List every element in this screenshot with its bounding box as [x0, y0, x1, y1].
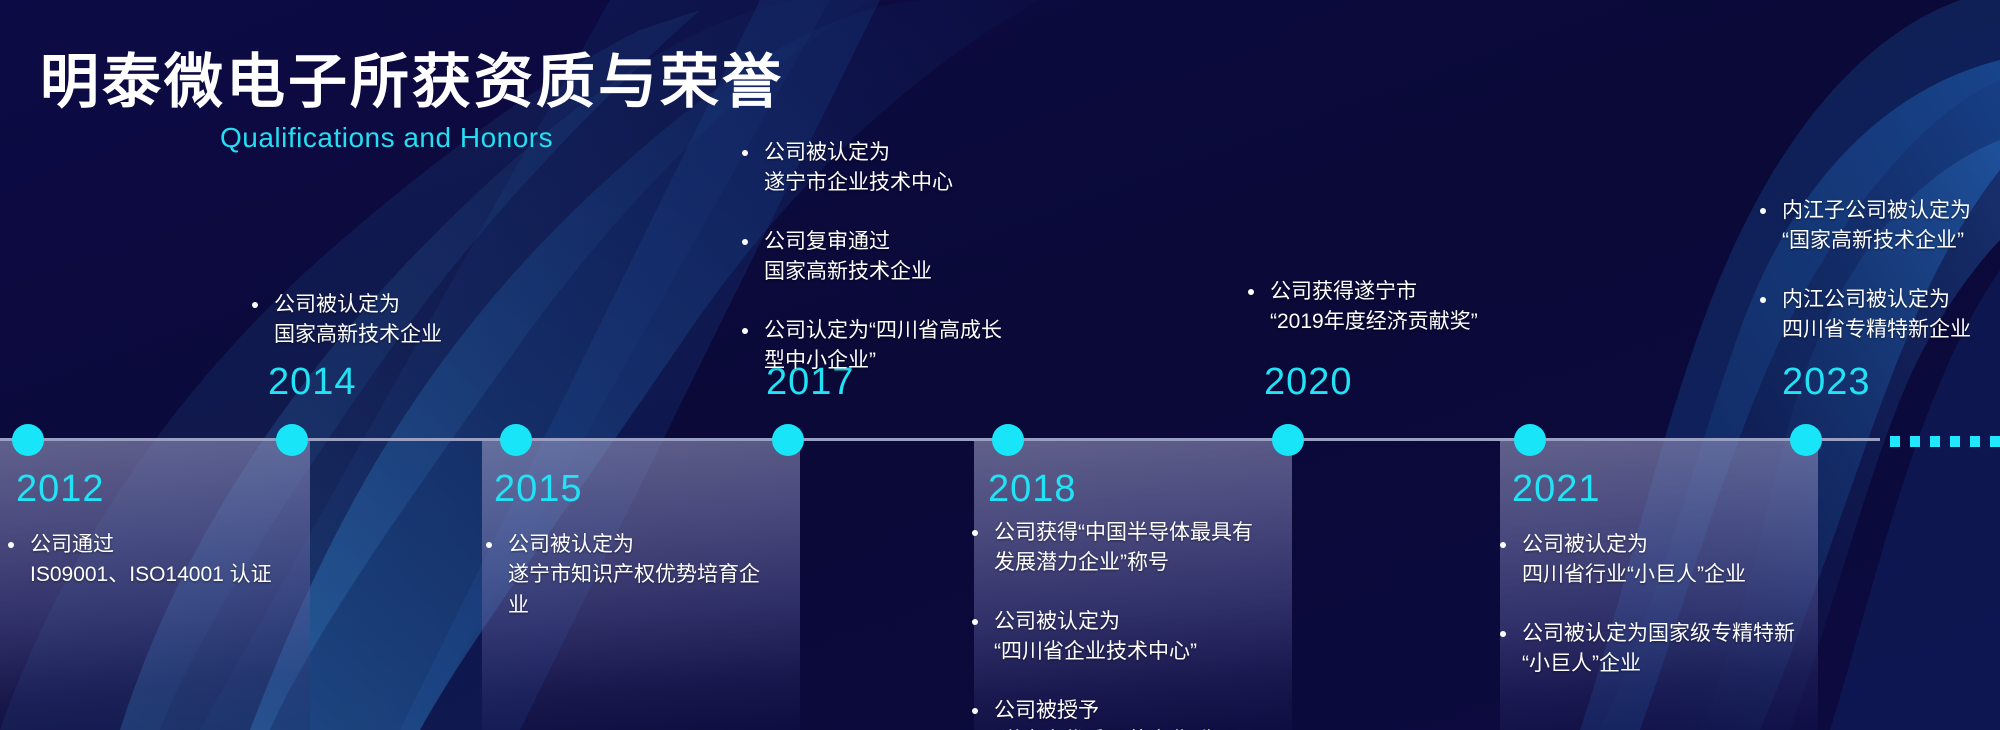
milestone-bullets-2015: 公司被认定为 遂宁市知识产权优势培育企 业 [482, 530, 792, 621]
list-item: 公司复审通过 国家高新技术企业 [738, 227, 1058, 288]
list-item: 公司认定为“四川省高成长 型中小企业” [738, 316, 1058, 377]
timeline-dot-2023[interactable] [1790, 424, 1822, 456]
timeline-dot-2014[interactable] [276, 424, 308, 456]
timeline-dot-2012[interactable] [12, 424, 44, 456]
year-label-2023: 2023 [1782, 361, 1871, 404]
milestone-bullets-2023: 内江子公司被认定为 “国家高新技术企业” 内江公司被认定为 四川省专精特新企业 [1756, 196, 2000, 346]
milestone-bullets-2018: 公司获得“中国半导体最具有 发展潜力企业”称号 公司被认定为 “四川省企业技术中… [968, 518, 1288, 730]
axis-tail-segment [1910, 436, 1920, 447]
axis-tail-segment [1990, 436, 2000, 447]
list-item: 公司被认定为国家级专精特新 “小巨人”企业 [1496, 619, 1826, 680]
axis-tail-segment [1890, 436, 1900, 447]
list-item: 公司被认定为 遂宁市知识产权优势培育企 业 [482, 530, 792, 621]
list-item: 内江子公司被认定为 “国家高新技术企业” [1756, 196, 2000, 257]
list-item: 公司被授予 “遂宁市优秀民营企业”称号 [968, 696, 1288, 730]
axis-tail-segment [1950, 436, 1960, 447]
year-label-2014: 2014 [268, 361, 357, 404]
year-label-2020: 2020 [1264, 361, 1353, 404]
timeline-dot-2015[interactable] [500, 424, 532, 456]
milestone-bullets-2012: 公司通过 IS09001、ISO14001 认证 [4, 530, 294, 591]
list-item: 公司被认定为 遂宁市企业技术中心 [738, 138, 1058, 199]
list-item: 公司被认定为 “四川省企业技术中心” [968, 607, 1288, 668]
timeline-dot-2021[interactable] [1514, 424, 1546, 456]
milestone-bullets-2021: 公司被认定为 四川省行业“小巨人”企业 公司被认定为国家级专精特新 “小巨人”企… [1496, 530, 1826, 680]
timeline-axis-tail [1890, 436, 2000, 447]
milestone-bullets-2014: 公司被认定为 国家高新技术企业 [248, 290, 538, 351]
timeline-dot-2017[interactable] [772, 424, 804, 456]
slide-canvas: 明泰微电子所获资质与荣誉 Qualifications and Honors 2… [0, 0, 2000, 730]
page-subtitle: Qualifications and Honors [220, 122, 553, 154]
timeline-dot-2018[interactable] [992, 424, 1024, 456]
milestone-bullets-2017: 公司被认定为 遂宁市企业技术中心 公司复审通过 国家高新技术企业 公司认定为“四… [738, 138, 1058, 377]
year-label-2021: 2021 [1512, 468, 1601, 511]
list-item: 内江公司被认定为 四川省专精特新企业 [1756, 285, 2000, 346]
list-item: 公司被认定为 四川省行业“小巨人”企业 [1496, 530, 1826, 591]
year-label-2012: 2012 [16, 468, 105, 511]
list-item: 公司被认定为 国家高新技术企业 [248, 290, 538, 351]
axis-tail-segment [1970, 436, 1980, 447]
timeline-dot-2020[interactable] [1272, 424, 1304, 456]
list-item: 公司获得“中国半导体最具有 发展潜力企业”称号 [968, 518, 1288, 579]
year-label-2018: 2018 [988, 468, 1077, 511]
year-label-2015: 2015 [494, 468, 583, 511]
axis-tail-segment [1930, 436, 1940, 447]
page-title: 明泰微电子所获资质与荣誉 [40, 34, 784, 119]
milestone-bullets-2020: 公司获得遂宁市 “2019年度经济贡献奖” [1244, 277, 1544, 338]
list-item: 公司获得遂宁市 “2019年度经济贡献奖” [1244, 277, 1544, 338]
list-item: 公司通过 IS09001、ISO14001 认证 [4, 530, 294, 591]
